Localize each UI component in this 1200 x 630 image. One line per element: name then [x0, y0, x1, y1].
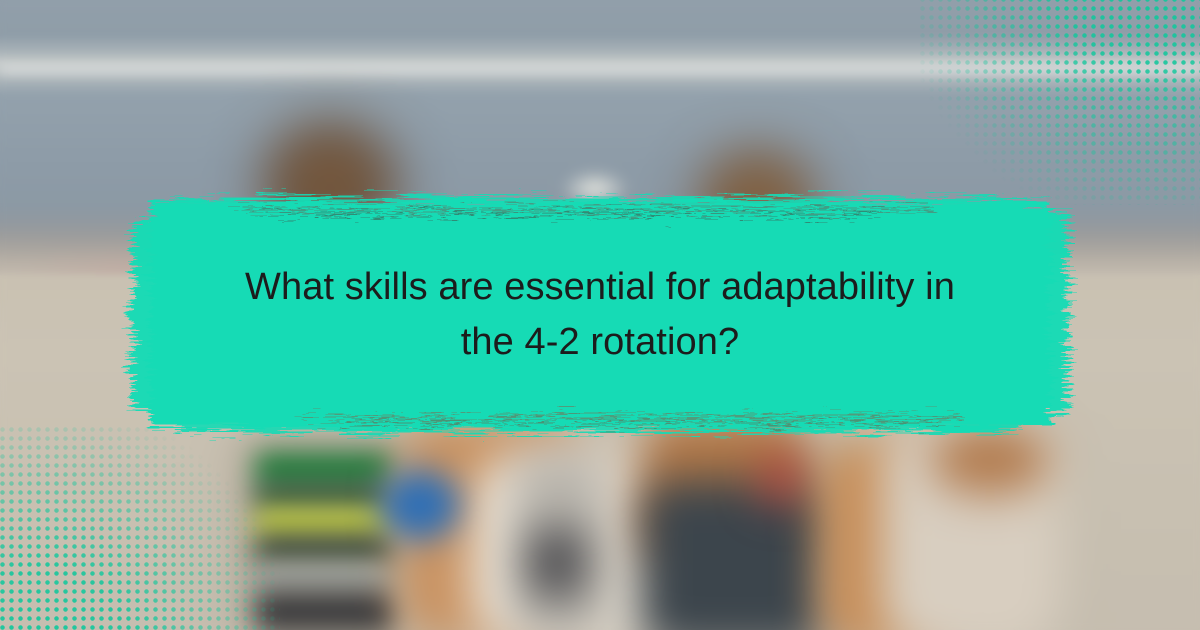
- question-card-canvas: What skills are essential for adaptabili…: [0, 0, 1200, 630]
- headline-line-1: What skills are essential for adaptabili…: [245, 260, 955, 315]
- highlight-banner: What skills are essential for adaptabili…: [0, 186, 1200, 444]
- headline-text: What skills are essential for adaptabili…: [150, 186, 1050, 444]
- headline-line-2: the 4-2 rotation?: [461, 315, 739, 370]
